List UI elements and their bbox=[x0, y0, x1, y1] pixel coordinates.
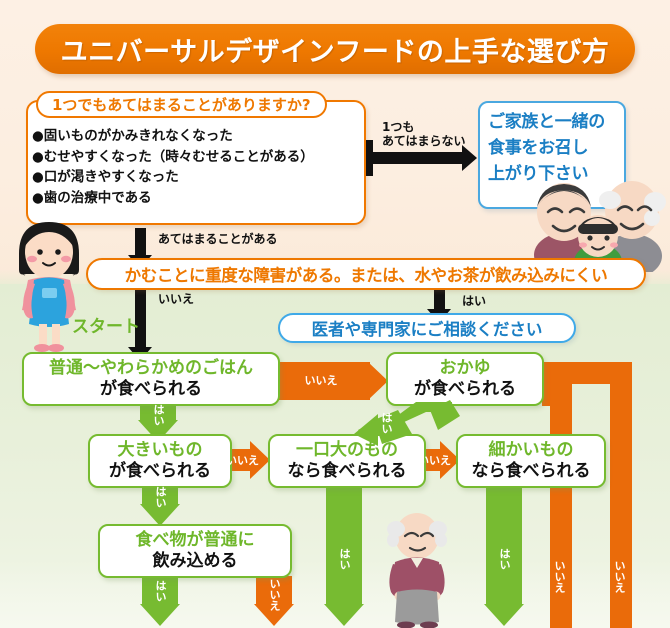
infographic-canvas: ユニバーサルデザインフードの上手な選び方 1つでもあてはまることがありますか? … bbox=[0, 0, 670, 628]
symptom-check-heading: 1つでもあてはまることがありますか? bbox=[36, 91, 327, 118]
box-normal-soft-rice-line1: 普通～やわらかめのごはん bbox=[49, 358, 253, 379]
arrow-swallow-yes-head bbox=[140, 604, 180, 626]
severe-impairment-text: かむことに重度な障害がある。または、水やお茶が飲み込みにくい bbox=[125, 262, 608, 286]
severe-impairment-box: かむことに重度な障害がある。または、水やお茶が飲み込みにくい bbox=[86, 258, 646, 290]
edge-label-line2: あてはまらない bbox=[382, 134, 466, 148]
arrow-fine-down-head bbox=[484, 604, 524, 626]
flow-label-second-right-no: いいえ bbox=[553, 560, 565, 593]
edge-label-severe-yes: はい bbox=[462, 294, 486, 308]
flow-label-bite-to-fine: いいえ bbox=[418, 455, 448, 467]
edge-label-line1: 1つも bbox=[382, 120, 466, 134]
edge-label-severe-no: いいえ bbox=[158, 292, 194, 306]
box-fine-items-line2: なら食べられる bbox=[472, 461, 591, 482]
box-swallow-normally: 食べ物が普通に 飲み込める bbox=[98, 524, 292, 578]
box-okayu-line2: が食べられる bbox=[414, 379, 516, 400]
flow-label-big-to-swallow: はい bbox=[154, 486, 166, 508]
box-okayu: おかゆ が食べられる bbox=[386, 352, 544, 406]
box-big-items: 大きいもの が食べられる bbox=[88, 434, 232, 488]
box-swallow-normally-line1: 食べ物が普通に bbox=[136, 530, 255, 551]
arrow-some-apply bbox=[135, 228, 146, 256]
edge-label-none-apply: 1つも あてはまらない bbox=[382, 120, 466, 148]
symptom-check-heading-text: 1つでもあてはまることがありますか? bbox=[52, 94, 311, 115]
arrow-okayu-to-bite bbox=[352, 400, 462, 446]
box-big-items-line2: が食べられる bbox=[109, 461, 211, 482]
box-fine-items-line1: 細かいもの bbox=[489, 440, 574, 461]
page-title-text: ユニバーサルデザインフードの上手な選び方 bbox=[61, 30, 610, 69]
start-label: スタート bbox=[72, 312, 140, 337]
arrow-bite-down-bar bbox=[326, 486, 362, 606]
box-normal-soft-rice: 普通～やわらかめのごはん が食べられる bbox=[22, 352, 280, 406]
edge-label-some-apply: あてはまることがある bbox=[158, 232, 278, 246]
flow-label-swallow-no: いいえ bbox=[268, 578, 280, 611]
arrow-rice-to-okayu-head bbox=[368, 362, 388, 400]
list-item: ●固いものがかみきれなくなった bbox=[32, 126, 314, 147]
elderly-man-illustration bbox=[381, 512, 453, 628]
flow-label-rice-to-big: はい bbox=[152, 404, 164, 426]
box-normal-soft-rice-line2: が食べられる bbox=[100, 379, 202, 400]
flow-label-okayu-to-bite: はい bbox=[380, 412, 392, 434]
box-swallow-normally-line2: 飲み込める bbox=[153, 551, 238, 572]
flow-label-rice-to-okayu: いいえ bbox=[296, 375, 346, 387]
family-illustration bbox=[520, 160, 670, 272]
list-item: ●歯の治療中である bbox=[32, 188, 314, 209]
arrow-fine-down-bar bbox=[486, 486, 522, 606]
list-item: ●口が渇きやすくなった bbox=[32, 167, 314, 188]
family-meal-line2: 食事をお召し bbox=[488, 135, 616, 161]
flow-label-far-right-no: いいえ bbox=[613, 560, 625, 593]
flow-label-big-to-bite: いいえ bbox=[226, 455, 256, 467]
family-meal-line1: ご家族と一緒の bbox=[488, 109, 616, 135]
consult-specialist-box: 医者や専門家にご相談ください bbox=[278, 313, 576, 343]
consult-specialist-text: 医者や専門家にご相談ください bbox=[312, 316, 543, 340]
box-okayu-line1: おかゆ bbox=[440, 358, 491, 379]
arrow-none-apply bbox=[371, 152, 463, 164]
flow-label-bite-down: はい bbox=[338, 548, 350, 570]
box-fine-items: 細かいもの なら食べられる bbox=[456, 434, 606, 488]
arrow-bite-down-head bbox=[324, 604, 364, 626]
flow-label-swallow-yes: はい bbox=[154, 580, 166, 602]
page-title: ユニバーサルデザインフードの上手な選び方 bbox=[35, 24, 635, 74]
list-item: ●むせやすくなった（時々むせることがある） bbox=[32, 147, 314, 168]
symptom-list: ●固いものがかみきれなくなった ●むせやすくなった（時々むせることがある） ●口… bbox=[32, 126, 314, 208]
flow-label-fine-down: はい bbox=[498, 548, 510, 570]
arrow-severe-yes bbox=[434, 288, 445, 310]
box-big-items-line1: 大きいもの bbox=[118, 440, 203, 461]
box-bite-size-line2: なら食べられる bbox=[288, 461, 407, 482]
